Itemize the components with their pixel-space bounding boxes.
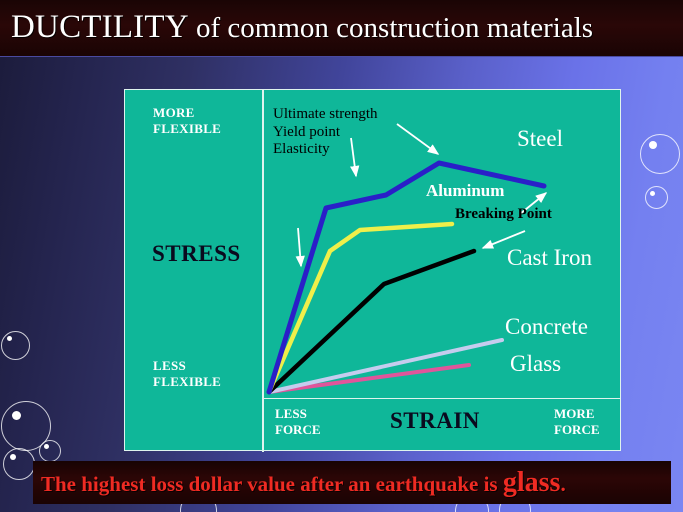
bubble-highlight-dot (649, 141, 657, 149)
series-label-cast-iron: Cast Iron (507, 245, 592, 271)
title-emphasis: DUCTILITY (11, 9, 189, 45)
caption-part-3: dollar value after an earthquake is (183, 472, 502, 496)
caption-emphasis-loss: loss (151, 472, 184, 496)
series-label-aluminum: Aluminum (426, 181, 504, 201)
bubble-decoration (1, 331, 30, 360)
slide-canvas: DUCTILITY of common construction materia… (0, 0, 683, 512)
bubble-decoration (640, 134, 680, 174)
series-label-concrete: Concrete (505, 314, 588, 340)
page-title: DUCTILITY of common construction materia… (11, 1, 593, 56)
bubble-decoration (39, 440, 61, 462)
annotation-stack: Ultimate strength Yield point Elasticity (273, 106, 378, 159)
chart-panel: MORE FLEXIBLE STRESS LESS FLEXIBLE LESS … (124, 89, 621, 451)
caption-part-5: . (560, 472, 565, 496)
bubble-highlight-dot (12, 411, 21, 420)
bubble-decoration (1, 401, 51, 451)
bubble-decoration (3, 448, 35, 480)
slide-title-bar: DUCTILITY of common construction materia… (0, 0, 683, 56)
bubble-highlight-dot (10, 454, 16, 460)
bubble-highlight-dot (650, 191, 655, 196)
caption-text: The highest loss dollar value after an e… (41, 461, 566, 504)
title-rest: of common construction materials (189, 12, 593, 44)
annotation-breaking-point: Breaking Point (455, 206, 552, 223)
bubble-highlight-dot (44, 444, 49, 449)
arrow-ultimate-strength (397, 124, 438, 154)
caption-bar: The highest loss dollar value after an e… (33, 461, 671, 504)
bubble-highlight-dot (7, 336, 12, 341)
arrow-elasticity (298, 228, 301, 266)
series-label-glass: Glass (510, 351, 561, 377)
series-label-steel: Steel (517, 126, 563, 152)
caption-emphasis-glass: glass (503, 467, 561, 498)
caption-part-1: The highest (41, 472, 151, 496)
bubble-decoration (645, 186, 668, 209)
